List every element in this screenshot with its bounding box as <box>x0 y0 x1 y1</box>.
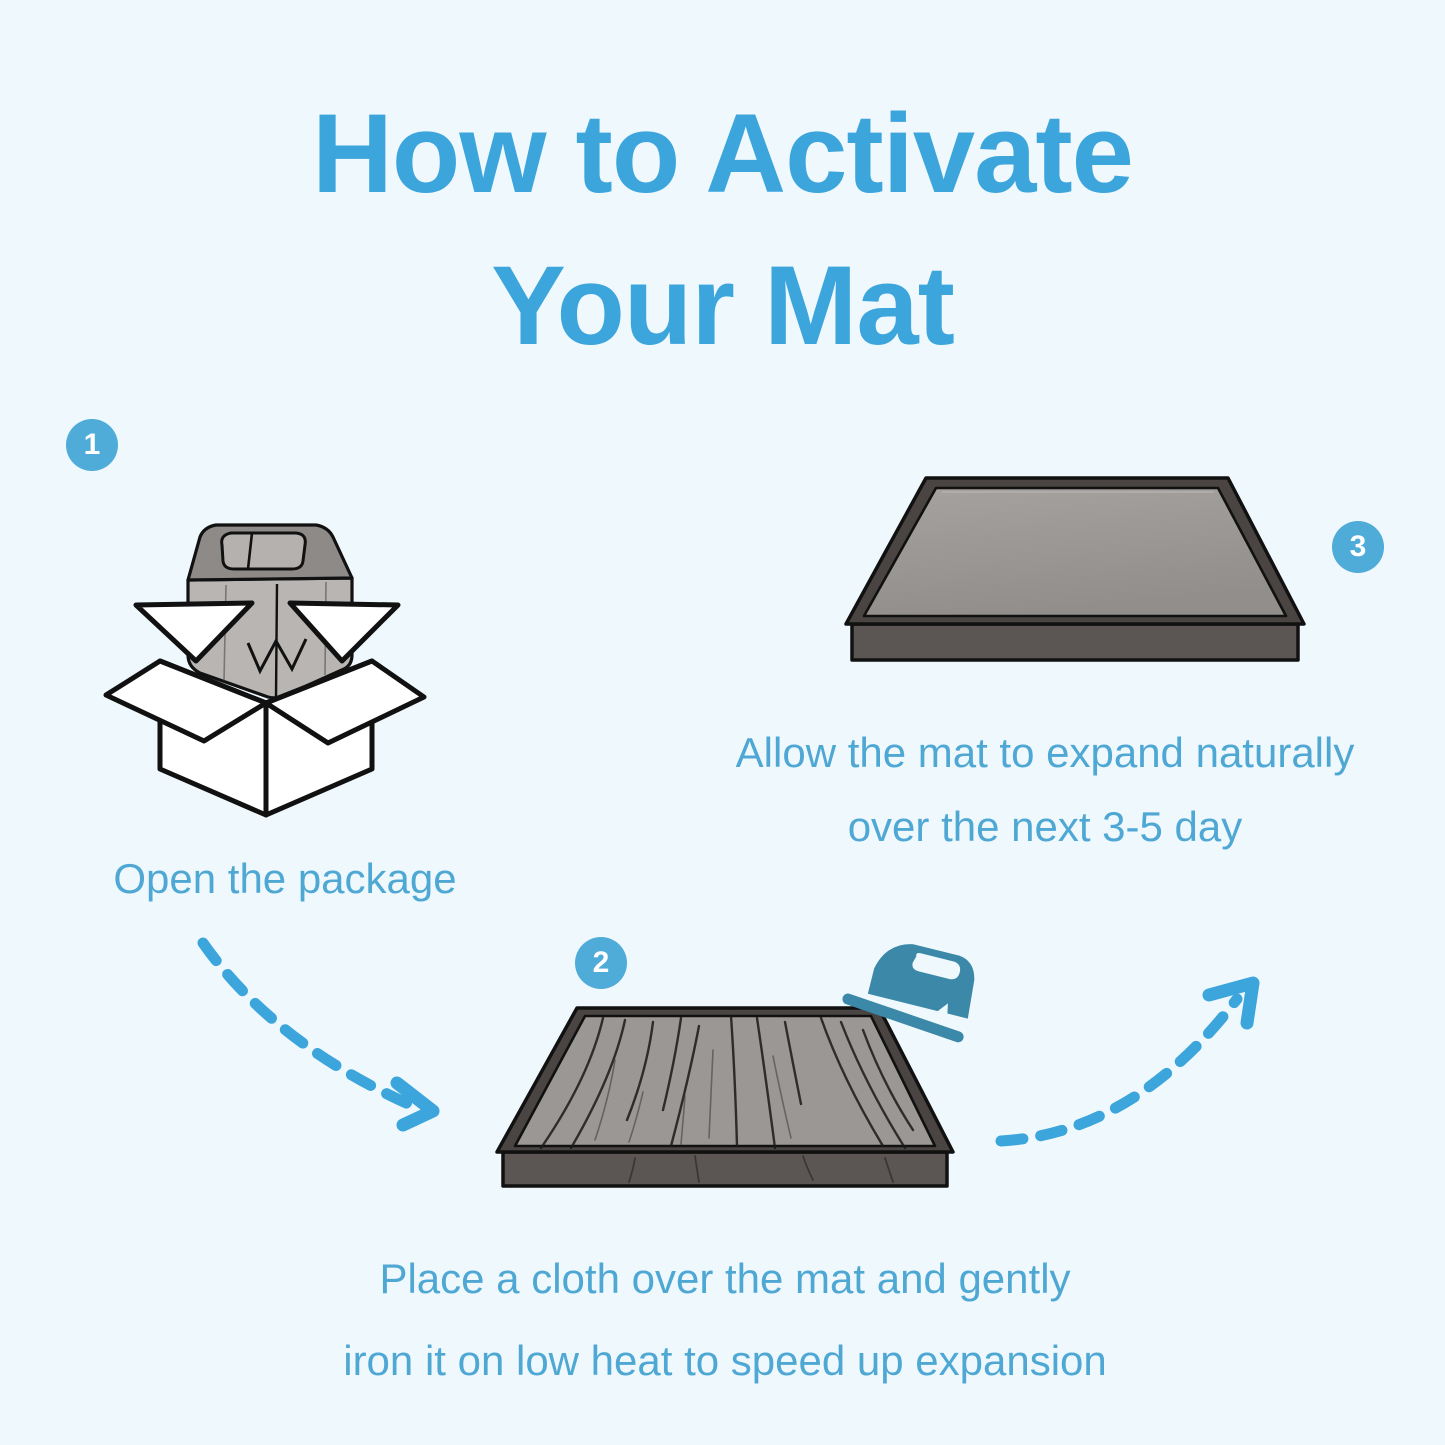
step-3-caption: Allow the mat to expand naturally over t… <box>650 716 1440 864</box>
open-box-icon <box>100 485 430 825</box>
arrow-step2-to-step3-icon <box>985 965 1285 1175</box>
step-badge-3: 3 <box>1332 521 1384 573</box>
step-2-caption: Place a cloth over the mat and gently ir… <box>215 1238 1235 1402</box>
page-title: How to Activate Your Mat <box>0 78 1445 382</box>
arrow-step1-to-step2-icon <box>165 925 485 1145</box>
step-2-caption-line-1: Place a cloth over the mat and gently <box>215 1238 1235 1320</box>
step-badge-2: 2 <box>575 937 627 989</box>
page-title-line-2: Your Mat <box>0 230 1445 382</box>
step-2-caption-line-2: iron it on low heat to speed up expansio… <box>215 1320 1235 1402</box>
page-title-line-1: How to Activate <box>0 78 1445 230</box>
step-badge-1: 1 <box>66 419 118 471</box>
step-3-caption-line-2: over the next 3-5 day <box>650 790 1440 864</box>
step-1-caption: Open the package <box>20 850 550 908</box>
iron-icon <box>848 928 993 1043</box>
expanded-mat-icon <box>830 468 1320 683</box>
infographic-root: How to Activate Your Mat 1 <box>0 0 1445 1445</box>
step-1-caption-line-1: Open the package <box>20 850 550 908</box>
step-3-caption-line-1: Allow the mat to expand naturally <box>650 716 1440 790</box>
